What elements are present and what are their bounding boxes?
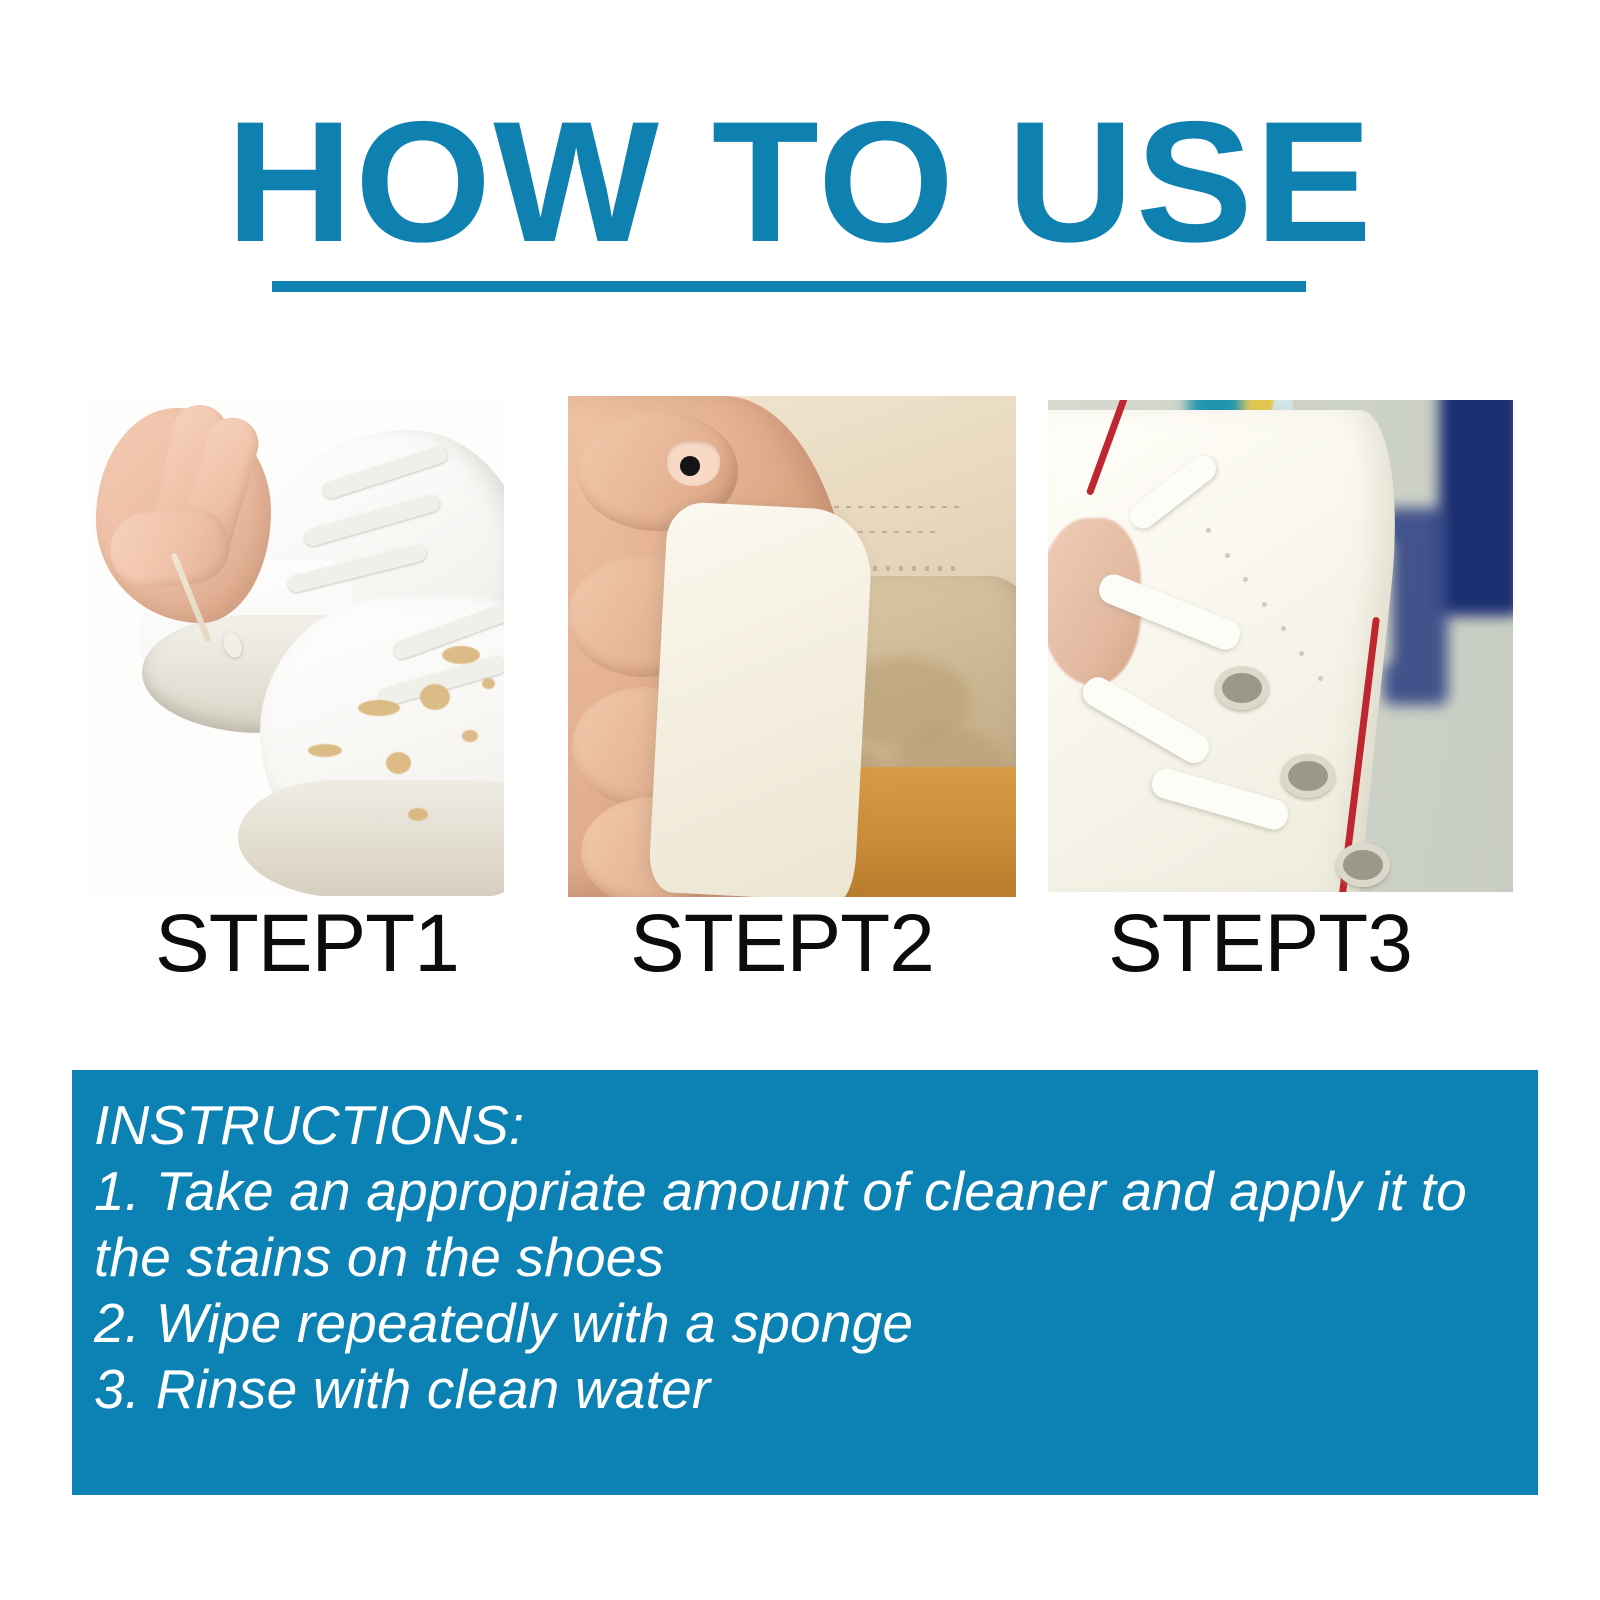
lace-eyelet xyxy=(1281,754,1335,798)
step-3-scene xyxy=(1048,400,1513,892)
perforation xyxy=(1206,528,1211,533)
perforation xyxy=(1225,553,1230,558)
perforation xyxy=(1299,651,1304,656)
perforation xyxy=(1281,626,1286,631)
step-3-photo xyxy=(1048,400,1513,892)
instructions-panel: INSTRUCTIONS: 1. Take an appropriate amo… xyxy=(72,1070,1538,1495)
step-gallery: STEPT1 xyxy=(0,0,1600,1000)
lace-eyelet xyxy=(1215,666,1269,710)
instructions-heading: INSTRUCTIONS: xyxy=(94,1092,1532,1158)
step-1-label: STEPT1 xyxy=(155,903,459,985)
dirt-stain xyxy=(386,752,411,774)
instruction-item-1: 1. Take an appropriate amount of cleaner… xyxy=(94,1158,1532,1290)
dirt-stain xyxy=(308,744,342,757)
nail-art-dot xyxy=(680,456,700,476)
step-1-scene xyxy=(90,400,504,896)
dirt-stain xyxy=(482,678,495,689)
step-2-scene xyxy=(568,396,1016,897)
dirt-stain xyxy=(408,808,428,821)
dirt-stain xyxy=(462,730,478,742)
step-1-photo xyxy=(90,400,504,896)
dirt-stain xyxy=(442,646,480,664)
perforation xyxy=(1262,602,1267,607)
step-3-label: STEPT3 xyxy=(1108,903,1412,985)
instruction-item-3: 3. Rinse with clean water xyxy=(94,1356,1532,1422)
perforation xyxy=(1318,676,1323,681)
cleaning-sponge xyxy=(648,501,874,897)
background-bottle xyxy=(1439,400,1513,616)
lace-eyelet xyxy=(1336,843,1390,887)
dirt-stain xyxy=(358,700,400,716)
instruction-item-2: 2. Wipe repeatedly with a sponge xyxy=(94,1290,1532,1356)
front-sneaker-sole xyxy=(238,780,504,896)
how-to-use-infographic: HOW TO USE xyxy=(0,0,1600,1600)
step-2-label: STEPT2 xyxy=(630,903,934,985)
dirt-stain xyxy=(420,684,450,710)
step-2-photo xyxy=(568,396,1016,897)
